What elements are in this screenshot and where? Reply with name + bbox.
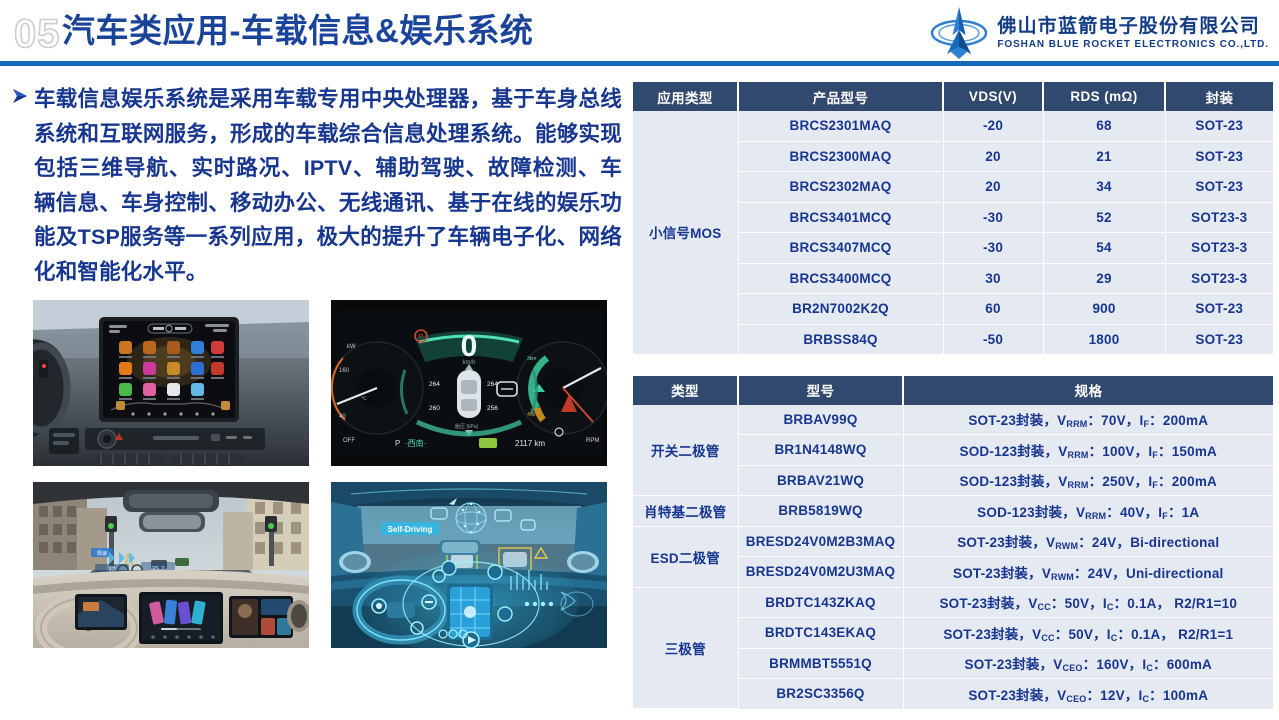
- svg-text:264: 264: [429, 381, 440, 388]
- company-logo: 佛山市蓝箭电子股份有限公司 FOSHAN BLUE ROCKET ELECTRO…: [929, 5, 1269, 61]
- page-title: 汽车类应用-车载信息&娱乐系统: [62, 9, 533, 53]
- table1-body: 小信号MOSBRCS2301MAQ-2068SOT-23BRCS2300MAQ2…: [633, 111, 1273, 354]
- cell-rds: 1800: [1043, 324, 1165, 354]
- company-name-en: FOSHAN BLUE ROCKET ELECTRONICS CO.,LTD.: [997, 38, 1269, 51]
- cell-rds: 68: [1043, 111, 1165, 141]
- cell-model: BRMMBT5551Q: [738, 648, 903, 679]
- cell-spec: SOD-123封装，VRRM：100V，IF：150mA: [903, 435, 1273, 466]
- svg-text:0: 0: [461, 330, 478, 363]
- cell-vds: 30: [943, 263, 1043, 294]
- cell-rds: 21: [1043, 141, 1165, 172]
- cell-package: SOT23-3: [1165, 263, 1273, 294]
- th-model: 型号: [738, 376, 903, 405]
- arrow-bullet-icon: [10, 82, 34, 289]
- table-row: 三极管BRDTC143ZKAQSOT-23封装，VCC：50V，IC：0.1A，…: [633, 587, 1273, 618]
- cell-spec: SOT-23封装，VRWM：24V，Uni-directional: [903, 557, 1273, 588]
- svg-text:256: 256: [487, 405, 498, 412]
- cell-vds: -30: [943, 202, 1043, 233]
- cell-package: SOT-23: [1165, 172, 1273, 203]
- cell-rds: 900: [1043, 294, 1165, 325]
- cell-model: BRDTC143EKAQ: [738, 618, 903, 649]
- cell-category: 三极管: [633, 587, 738, 709]
- company-name-cn: 佛山市蓝箭电子股份有限公司: [997, 16, 1269, 38]
- diode-transistor-table: 类型 型号 规格 开关二极管BRBAV99QSOT-23封装，VRRM：70V，…: [633, 376, 1273, 710]
- cell-spec: SOT-23封装，VCC：50V，IC：0.1A， R2/R1=10: [903, 587, 1273, 618]
- svg-text:胎压 (kPa): 胎压 (kPa): [455, 423, 479, 430]
- cell-model: BRESD24V0M2B3MAQ: [738, 526, 903, 557]
- cell-model: BRBSS84Q: [738, 324, 943, 354]
- cell-vds: 20: [943, 141, 1043, 172]
- cell-model: BRCS2300MAQ: [738, 141, 943, 172]
- cell-category: 小信号MOS: [633, 111, 738, 354]
- photo-self-driving-smart-cockpit-interface: Self-Driving: [331, 482, 607, 648]
- slide-header: 05 汽车类应用-车载信息&娱乐系统 佛山市蓝箭电子股份有限公司 FOSHAN …: [0, 0, 1279, 66]
- cell-model: BRCS2301MAQ: [738, 111, 943, 141]
- th-spec: 规格: [903, 376, 1273, 405]
- svg-text:P: P: [419, 334, 424, 341]
- th-product-model: 产品型号: [738, 82, 943, 111]
- left-content-column: 车载信息娱乐系统是采用车载专用中央处理器，基于车身总线系统和互联网服务，形成的车…: [0, 72, 628, 720]
- description-paragraph: 车载信息娱乐系统是采用车载专用中央处理器，基于车身总线系统和互联网服务，形成的车…: [34, 82, 622, 289]
- table-row: ESD二极管BRESD24V0M2B3MAQSOT-23封装，VRWM：24V，…: [633, 526, 1273, 557]
- cell-model: BRDTC143ZKAQ: [738, 587, 903, 618]
- cell-spec: SOT-23封装，VCEO：12V，IC：100mA: [903, 679, 1273, 709]
- cell-spec: SOT-23封装，VCC：50V，IC：0.1A， R2/R1=1: [903, 618, 1273, 649]
- cell-spec: SOT-23封装，VRWM：24V，Bi-directional: [903, 526, 1273, 557]
- photo-gallery: kW16040 OFF ℃ RPM 3km 40b: [33, 300, 618, 648]
- svg-text:Self-Driving: Self-Driving: [388, 525, 433, 534]
- table2-body: 开关二极管BRBAV99QSOT-23封装，VRRM：70V，IF：200mAB…: [633, 405, 1273, 709]
- description-bullet: 车载信息娱乐系统是采用车载专用中央处理器，基于车身总线系统和互联网服务，形成的车…: [10, 82, 622, 289]
- cell-package: SOT23-3: [1165, 202, 1273, 233]
- cell-vds: -30: [943, 233, 1043, 264]
- table-row: 开关二极管BRBAV99QSOT-23封装，VRRM：70V，IF：200mA: [633, 405, 1273, 435]
- svg-text:3km: 3km: [527, 356, 536, 362]
- spec-tables: 应用类型 产品型号 VDS(V) RDS (mΩ) 封装 小信号MOSBRCS2…: [633, 82, 1273, 709]
- cell-rds: 54: [1043, 233, 1165, 264]
- cell-model: BR1N4148WQ: [738, 435, 903, 466]
- svg-text:限速: 限速: [97, 550, 107, 557]
- th-application-type: 应用类型: [633, 82, 738, 111]
- cell-vds: -50: [943, 324, 1043, 354]
- svg-text:OFF: OFF: [343, 438, 355, 444]
- cell-category: 肖特基二极管: [633, 496, 738, 527]
- cell-vds: 20: [943, 172, 1043, 203]
- cell-spec: SOT-23封装，VCEO：160V，IC：600mA: [903, 648, 1273, 679]
- cell-rds: 34: [1043, 172, 1165, 203]
- cell-model: BRBAV21WQ: [738, 465, 903, 496]
- cell-model: BRCS3407MCQ: [738, 233, 943, 264]
- cell-package: SOT-23: [1165, 294, 1273, 325]
- header-divider: [0, 61, 1279, 66]
- cell-model: BRBAV99Q: [738, 405, 903, 435]
- svg-text:RPM: RPM: [586, 438, 599, 444]
- cell-category: ESD二极管: [633, 526, 738, 587]
- cell-model: BR2N7002K2Q: [738, 294, 943, 325]
- svg-text:260: 260: [429, 405, 440, 412]
- cell-vds: -20: [943, 111, 1043, 141]
- svg-text:kW: kW: [347, 344, 356, 350]
- th-type: 类型: [633, 376, 738, 405]
- cell-spec: SOD-123封装，VRRM：250V，IF：200mA: [903, 465, 1273, 496]
- table-gap: [633, 355, 1273, 376]
- cell-package: SOT23-3: [1165, 233, 1273, 264]
- table2-header-row: 类型 型号 规格: [633, 376, 1273, 405]
- cell-model: BRCS2302MAQ: [738, 172, 943, 203]
- section-number: 05: [14, 12, 61, 56]
- cell-package: SOT-23: [1165, 324, 1273, 354]
- cell-model: BRB5819WQ: [738, 496, 903, 527]
- slide-root: 05 汽车类应用-车载信息&娱乐系统 佛山市蓝箭电子股份有限公司 FOSHAN …: [0, 0, 1279, 720]
- svg-text:℃: ℃: [361, 396, 367, 402]
- table-row: 肖特基二极管BRB5819WQSOD-123封装，VRRM：40V，IF：1A: [633, 496, 1273, 527]
- cell-model: BRCS3400MCQ: [738, 263, 943, 294]
- svg-text:·西南·: ·西南·: [405, 438, 426, 448]
- cell-category: 开关二极管: [633, 405, 738, 496]
- cell-vds: 60: [943, 294, 1043, 325]
- photo-hud-augmented-reality-cockpit-view: 限速 12 35.2: [33, 482, 309, 648]
- cell-model: BRCS3401MCQ: [738, 202, 943, 233]
- th-package: 封装: [1165, 82, 1273, 111]
- table1-header-row: 应用类型 产品型号 VDS(V) RDS (mΩ) 封装: [633, 82, 1273, 111]
- photo-car-center-console-infotainment-screen: [33, 300, 309, 466]
- cell-rds: 29: [1043, 263, 1165, 294]
- blue-rocket-arrow-logo-icon: [929, 5, 989, 61]
- cell-spec: SOD-123封装，VRRM：40V，IF：1A: [903, 496, 1273, 527]
- cell-rds: 52: [1043, 202, 1165, 233]
- photo-digital-instrument-cluster-dashboard: kW16040 OFF ℃ RPM 3km 40b: [331, 300, 607, 466]
- small-signal-mos-table: 应用类型 产品型号 VDS(V) RDS (mΩ) 封装 小信号MOSBRCS2…: [633, 82, 1273, 355]
- svg-text:P: P: [395, 439, 400, 448]
- cell-spec: SOT-23封装，VRRM：70V，IF：200mA: [903, 405, 1273, 435]
- cell-model: BR2SC3356Q: [738, 679, 903, 709]
- th-vds: VDS(V): [943, 82, 1043, 111]
- cell-package: SOT-23: [1165, 141, 1273, 172]
- th-rds: RDS (mΩ): [1043, 82, 1165, 111]
- cell-model: BRESD24V0M2U3MAQ: [738, 557, 903, 588]
- svg-text:2117 km: 2117 km: [515, 439, 545, 448]
- table-row: 小信号MOSBRCS2301MAQ-2068SOT-23: [633, 111, 1273, 141]
- svg-text:40: 40: [339, 414, 346, 420]
- svg-text:160: 160: [339, 368, 350, 374]
- cell-package: SOT-23: [1165, 111, 1273, 141]
